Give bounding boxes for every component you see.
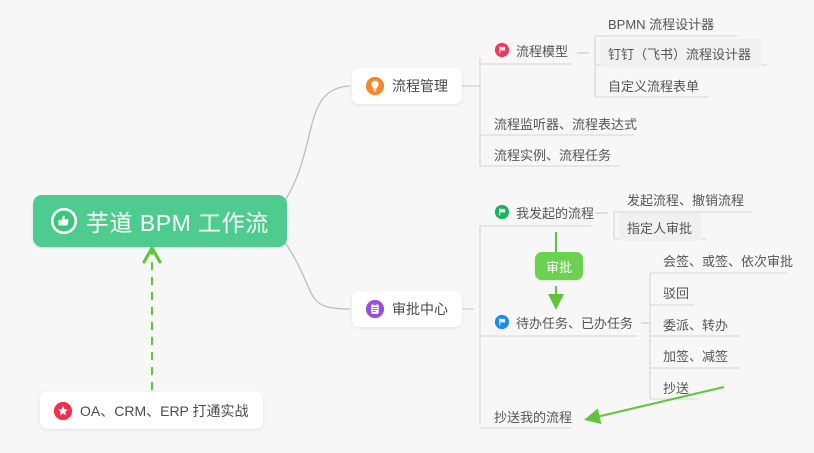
connector-root-to-approval-center	[282, 238, 350, 309]
leaf-reject[interactable]: 驳回	[655, 278, 699, 306]
leaf-label: 自定义流程表单	[608, 76, 699, 95]
leaf-custom-form[interactable]: 自定义流程表单	[600, 71, 709, 99]
leaf-label: 委派、转办	[663, 315, 728, 334]
root-node[interactable]: 芋道 BPM 工作流	[33, 195, 287, 247]
node-label: 待办任务、已办任务	[516, 313, 633, 332]
leaf-process-listener[interactable]: 流程监听器、流程表达式	[486, 109, 647, 137]
node-label: 流程模型	[516, 41, 568, 60]
leaf-label: 抄送我的流程	[494, 407, 572, 426]
node-my-started-processes[interactable]: 我发起的流程	[489, 198, 604, 226]
leaf-assigned-approver[interactable]: 指定人审批	[619, 213, 702, 241]
leaf-label: 发起流程、撤销流程	[627, 190, 744, 209]
root-label: 芋道 BPM 工作流	[86, 204, 269, 238]
branch-process-management[interactable]: 流程管理	[352, 68, 462, 104]
note-node[interactable]: OA、CRM、ERP 打通实战	[40, 392, 263, 429]
tag-label: 审批	[546, 257, 572, 276]
leaf-cc-my-processes[interactable]: 抄送我的流程	[486, 402, 582, 430]
leaf-label: 钉钉（飞书）流程设计器	[608, 44, 751, 63]
leaf-countersign[interactable]: 会签、或签、依次审批	[655, 246, 803, 274]
leaf-bpmn-designer[interactable]: BPMN 流程设计器	[600, 9, 724, 37]
connector-root-to-process-management	[282, 86, 350, 205]
mindmap-canvas: 芋道 BPM 工作流 OA、CRM、ERP 打通实战 流程管理	[0, 0, 814, 453]
leaf-label: 加签、减签	[663, 346, 728, 365]
leaf-start-cancel-process[interactable]: 发起流程、撤销流程	[619, 185, 754, 213]
flag-icon	[495, 315, 509, 329]
branch-label: 流程管理	[392, 76, 448, 96]
leaf-carbon-copy[interactable]: 抄送	[655, 373, 699, 401]
leaf-label: 流程监听器、流程表达式	[494, 114, 637, 133]
leaf-label: 驳回	[663, 283, 689, 302]
node-label: 我发起的流程	[516, 203, 594, 222]
flag-icon	[495, 43, 509, 57]
leaf-dingtalk-designer[interactable]: 钉钉（飞书）流程设计器	[600, 39, 761, 67]
branch-approval-center[interactable]: 审批中心	[352, 291, 462, 327]
leaf-delegate-transfer[interactable]: 委派、转办	[655, 310, 738, 338]
leaf-add-remove-sign[interactable]: 加签、减签	[655, 341, 738, 369]
leaf-label: BPMN 流程设计器	[608, 14, 714, 33]
note-label: OA、CRM、ERP 打通实战	[80, 401, 249, 421]
clipboard-icon	[366, 300, 384, 318]
branch-label: 审批中心	[392, 299, 448, 319]
lightbulb-icon	[366, 77, 384, 95]
leaf-label: 抄送	[663, 378, 689, 397]
star-icon	[54, 402, 72, 420]
thumbs-up-icon	[51, 208, 77, 234]
leaf-process-instance[interactable]: 流程实例、流程任务	[486, 140, 621, 168]
leaf-label: 指定人审批	[627, 218, 692, 237]
node-process-model[interactable]: 流程模型	[489, 36, 578, 64]
node-todo-done-tasks[interactable]: 待办任务、已办任务	[489, 308, 643, 336]
leaf-label: 流程实例、流程任务	[494, 145, 611, 164]
leaf-label: 会签、或签、依次审批	[663, 251, 793, 270]
annotation-tag-approve: 审批	[535, 252, 583, 280]
flag-icon	[495, 205, 509, 219]
